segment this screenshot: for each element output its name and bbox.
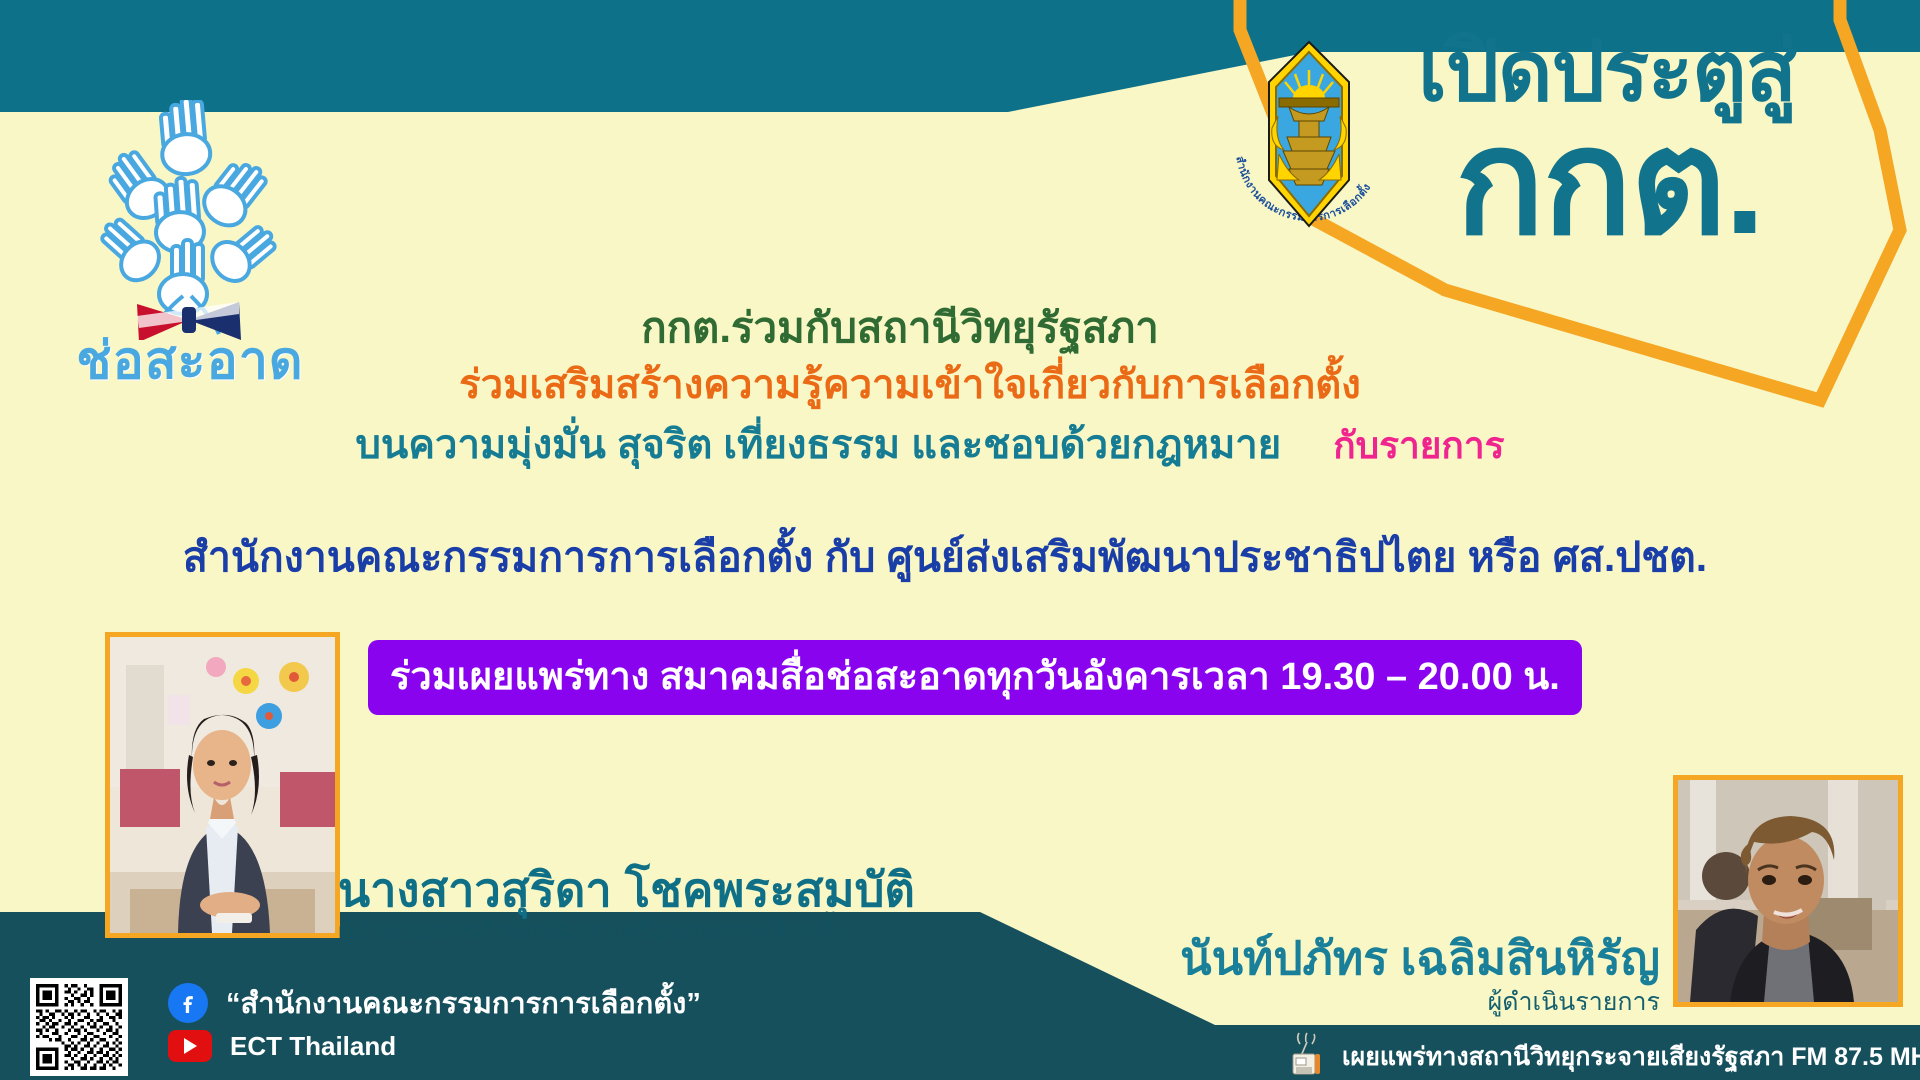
main-line-pink: กับรายการ <box>1333 425 1504 466</box>
main-line-orange: ร่วมเสริมสร้างความรู้ความเข้าใจเกี่ยวกับ… <box>0 352 1920 416</box>
facebook-row[interactable]: “สำนักงานคณะกรรมการการเลือกตั้ง” <box>168 980 701 1026</box>
program-title-line2: กกต. <box>1455 108 1763 258</box>
main-line-teal-row: บนความมุ่งมั่น สุจริต เที่ยงธรรม และชอบด… <box>0 412 1920 476</box>
radio-icon <box>1288 1032 1328 1080</box>
ect-seal-icon: สำนักงานคณะกรรมการการเลือกตั้ง <box>1218 36 1400 246</box>
person-role-left: ผู้อำนวยการสำนักพัฒนาเครือข่ายการเลือกตั… <box>338 910 846 951</box>
portrait-photo-right <box>1673 775 1903 1007</box>
youtube-icon[interactable] <box>168 1030 212 1062</box>
broadcast-banner: ร่วมเผยแพร่ทาง สมาคมสื่อช่อสะอาดทุกวันอั… <box>368 640 1582 715</box>
facebook-icon[interactable] <box>168 983 208 1023</box>
portrait-photo-left <box>105 632 340 938</box>
poster-canvas: ช่อสะอาด สำนักงานคณะกรรมการการเลือกตั้ง <box>0 0 1920 1080</box>
main-line-teal: บนความมุ่งมั่น สุจริต เที่ยงธรรม และชอบด… <box>355 423 1281 467</box>
main-line-blue: สำนักงานคณะกรรมการการเลือกตั้ง กับ ศูนย์… <box>0 525 1920 590</box>
radio-row: เผยแพร่ทางสถานีวิทยุกระจายเสียงรัฐสภา FM… <box>1288 1032 1920 1080</box>
facebook-label: “สำนักงานคณะกรรมการการเลือกตั้ง” <box>226 980 701 1026</box>
qr-code[interactable] <box>30 978 128 1076</box>
person-role-right: ผู้ดำเนินรายการ <box>1140 982 1660 1022</box>
youtube-label: ECT Thailand <box>230 1031 396 1062</box>
radio-label: เผยแพร่ทางสถานีวิทยุกระจายเสียงรัฐสภา FM… <box>1342 1037 1920 1077</box>
youtube-row[interactable]: ECT Thailand <box>168 1030 396 1062</box>
